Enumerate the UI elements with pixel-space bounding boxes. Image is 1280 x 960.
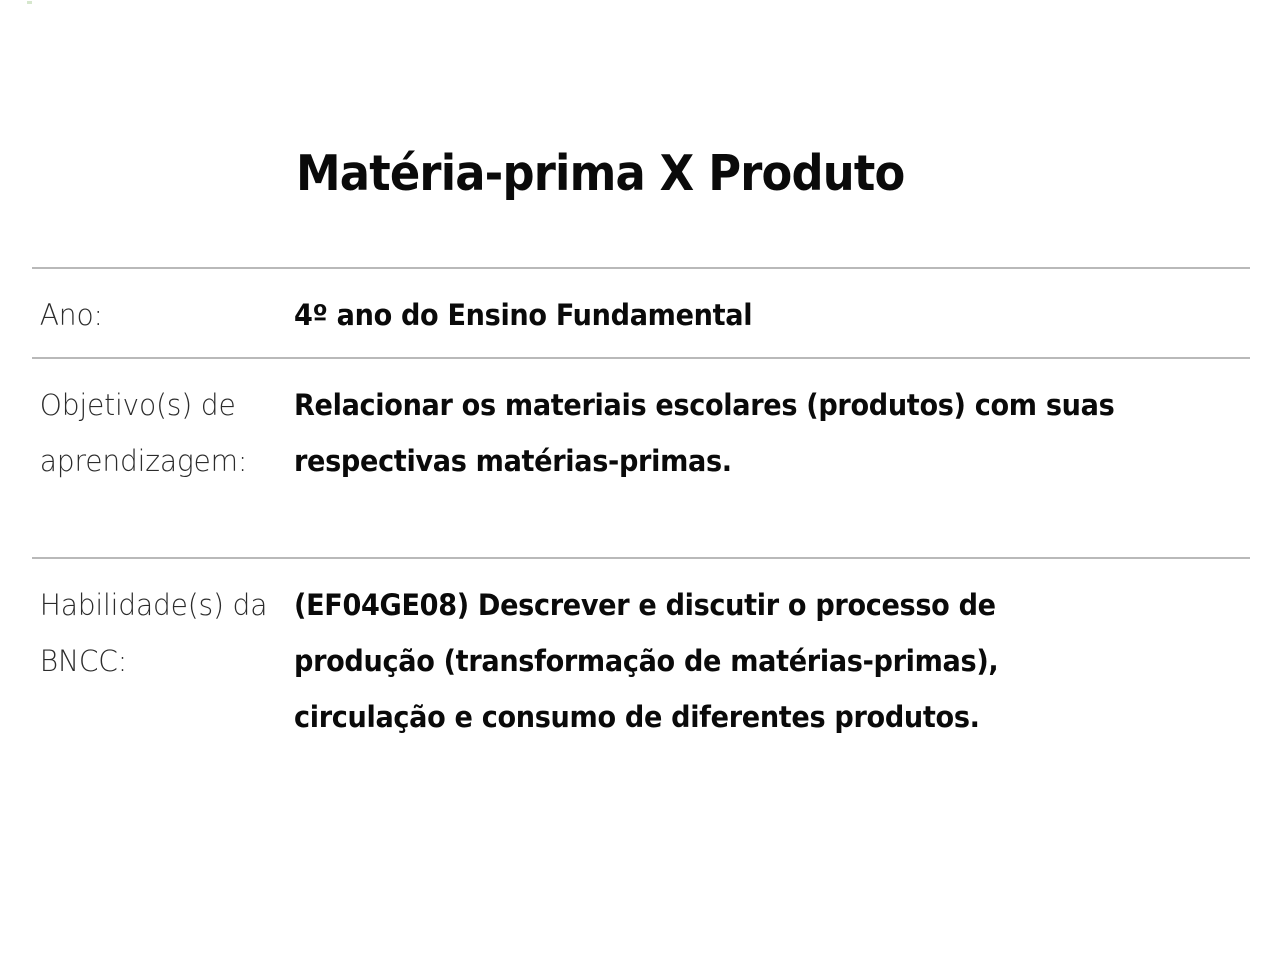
- row-label-ano: Ano:: [32, 287, 286, 343]
- lesson-info-table: Ano: 4º ano do Ensino Fundamental Objeti…: [32, 267, 1250, 772]
- table-row: Habilidade(s) da BNCC: (EF04GE08) Descre…: [32, 557, 1250, 772]
- row-label-habilidades-bncc: Habilidade(s) da BNCC:: [32, 577, 286, 689]
- lesson-plan-page: Matéria-prima X Produto Ano: 4º ano do E…: [0, 0, 1280, 960]
- row-value-habilidades-bncc: (EF04GE08) Descrever e discutir o proces…: [294, 577, 1140, 745]
- page-title: Matéria-prima X Produto: [296, 143, 904, 205]
- table-row: Ano: 4º ano do Ensino Fundamental: [32, 267, 1250, 357]
- table-row: Objetivo(s) de aprendizagem: Relacionar …: [32, 357, 1250, 557]
- row-value-ano: 4º ano do Ensino Fundamental: [294, 287, 1140, 343]
- capture-artifact-pixel: [27, 1, 32, 4]
- row-value-objetivos-aprendizagem: Relacionar os materiais escolares (produ…: [294, 377, 1140, 489]
- row-label-objetivos-aprendizagem: Objetivo(s) de aprendizagem:: [32, 377, 286, 489]
